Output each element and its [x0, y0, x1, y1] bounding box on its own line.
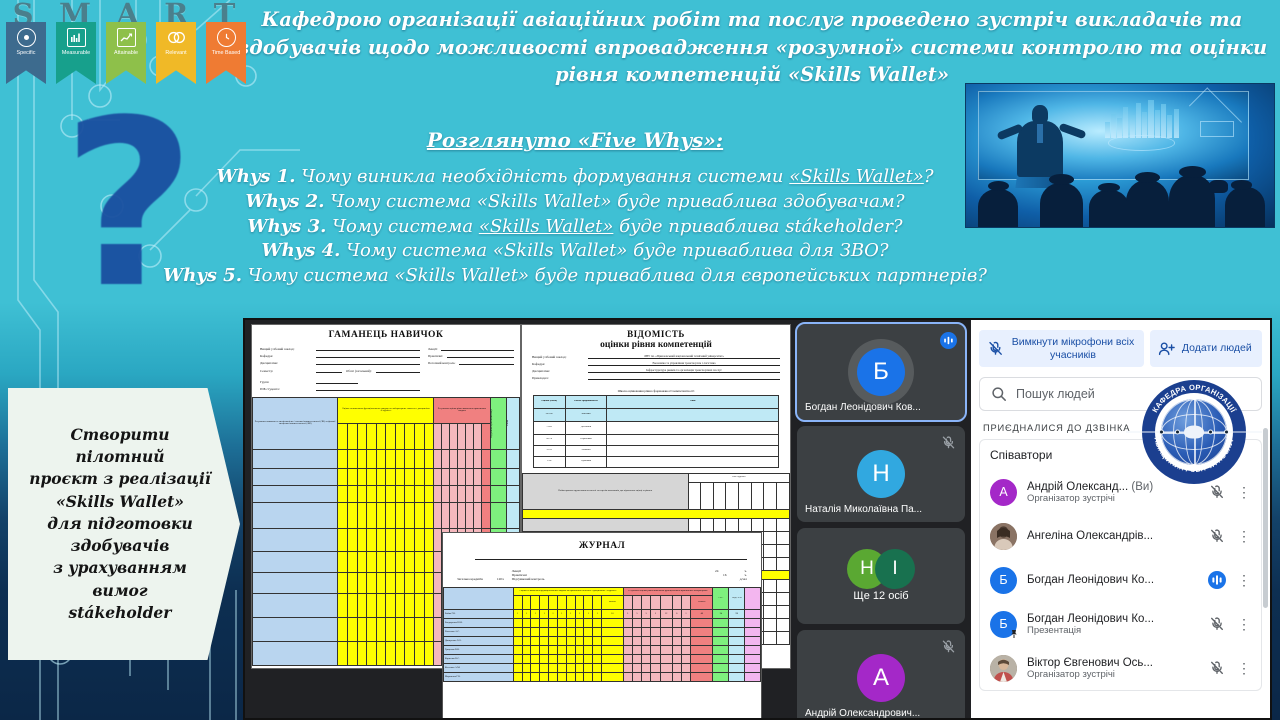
more-options-icon[interactable]: ⋮	[1237, 620, 1251, 628]
doc1-field-label: Вищий учбовий заклад:	[260, 347, 312, 351]
doc2-scale-score: 90-100	[534, 413, 565, 417]
logo-bottom-text: АВІАЦІЙНИХ РОБІТ ТА ПОСЛУГ	[1152, 437, 1235, 474]
doc3-head-srs: СРС	[713, 597, 728, 601]
tile-name: Богдан Леонідович Ков...	[805, 402, 957, 413]
doc3-stat-value: 120ч	[497, 577, 504, 581]
doc3-row-total: 10	[602, 612, 622, 616]
department-logo: КАФЕДРА ОРГАНІЗАЦІЇ АВІАЦІЙНИХ РОБІТ ТА …	[1142, 380, 1246, 484]
doc1-col-header-green: Підсумкова оцінка компетенції	[491, 409, 493, 438]
add-person-icon	[1158, 341, 1176, 357]
whys-text-a: Чому система «Skills Wallet» буде приваб…	[346, 240, 888, 261]
participant-row[interactable]: Б Богдан Леонідович Ко... ⋮	[980, 558, 1261, 602]
smart-ribbons: Specific Measurable Attainable Relevant …	[6, 22, 246, 90]
doc2-scale-title: Шкала оцінювання рівня сформованості ком…	[522, 386, 790, 395]
doc2-subtitle: оцінки рівня компетенцій	[522, 340, 790, 354]
clock-icon	[217, 28, 236, 47]
doc3-head-red: Результати оцінки рівня виконання функці…	[624, 590, 713, 594]
pin-icon	[1009, 629, 1019, 639]
smart-ribbon-label: Measurable	[56, 51, 96, 57]
doc1-col-header-yellow: Оцінка за виконання функціональних завда…	[338, 407, 433, 413]
doc3-head-sum: Всього	[691, 601, 712, 605]
doc3-cell: 1	[531, 612, 539, 616]
callout-line: для підготовки	[28, 513, 212, 535]
avatar-pair: Н І	[853, 549, 909, 589]
callout-line: Створити пілотний	[28, 424, 212, 469]
mic-muted-icon[interactable]	[1207, 660, 1227, 676]
whys-item-2: Whys 2. Чому система «Skills Wallet» буд…	[110, 190, 1040, 215]
mic-muted-icon[interactable]	[1207, 484, 1227, 500]
doc1-field-right: Практичні:	[428, 354, 443, 358]
whys-num: Whys 2.	[246, 191, 325, 212]
doc3-student: Дмитренко О.О.	[444, 639, 513, 643]
video-meeting-screenshot: ГАМАНЕЦЬ НАВИЧОК Вищий учбовий заклад: К…	[243, 318, 1272, 720]
smart-ribbon-relevant: Relevant	[156, 22, 196, 84]
callout-line: з урахуванням	[28, 557, 212, 579]
doc3-cell: 1	[593, 612, 601, 616]
doc3-student: Бойко Г.В.	[444, 612, 513, 616]
callout-line: «Skills Wallet»	[28, 491, 212, 513]
participant-name: Богдан Леонідович Ко...	[1027, 574, 1197, 586]
doc3-cell: 1	[576, 612, 584, 616]
screen-bar-chart-icon	[1105, 98, 1179, 138]
whys-num: Whys 5.	[163, 265, 242, 286]
shared-screen-stage[interactable]: ГАМАНЕЦЬ НАВИЧОК Вищий учбовий заклад: К…	[245, 320, 791, 718]
doc3-cell: 1	[682, 612, 690, 616]
target-icon	[17, 28, 36, 47]
search-icon	[991, 386, 1007, 402]
whys-text-a: Чому виникла необхідність формування сис…	[301, 166, 789, 187]
whys-item-5: Whys 5. Чому система «Skills Wallet» буд…	[110, 264, 1040, 289]
people-panel: Вимкнути мікрофони всіх учасників Додати…	[971, 320, 1270, 718]
doc1-field-label: Кафедра:	[260, 354, 312, 358]
people-panel-scrollbar[interactable]	[1263, 428, 1268, 608]
tile-name: Андрій Олександрович...	[805, 708, 957, 719]
smart-ribbon-label: Relevant	[156, 51, 196, 57]
svg-text:КАФЕДРА ОРГАНІЗАЦІЇ: КАФЕДРА ОРГАНІЗАЦІЇ	[1150, 383, 1238, 415]
avatar: Б	[990, 611, 1017, 638]
doc3-row-rtotal: 48	[691, 612, 712, 616]
doc3-cell: 1	[523, 612, 531, 616]
doc3-student: Мартинюк Г.В.	[444, 675, 513, 679]
participant-row[interactable]: Ангеліна Олександрів... ⋮	[980, 514, 1261, 558]
whys-text-b: ?	[924, 166, 934, 187]
doc2-scale-level: Нульовий	[566, 460, 607, 464]
speaking-indicator-icon	[940, 332, 957, 349]
doc3-cell: 5	[642, 612, 650, 616]
smart-ribbon-label: Time Based	[206, 51, 246, 57]
doc2-scale-level: Достатній	[566, 426, 607, 430]
participant-info: Ангеліна Олександрів...	[1027, 530, 1197, 542]
participant-row[interactable]: Б Богдан Леонідович Ко... Презентація ⋮	[980, 602, 1261, 646]
doc3-cell: 5	[633, 612, 641, 616]
avatar	[990, 523, 1017, 550]
doc2-scale-level: Низький	[566, 449, 607, 453]
doc3-title: ЖУРНАЛ	[443, 533, 761, 555]
doc3-head-yellow: Оцінка за виконання функціональних завда…	[514, 590, 623, 594]
more-options-icon[interactable]: ⋮	[1237, 576, 1251, 584]
smart-ribbon-attainable: Attainable	[106, 22, 146, 84]
doc2-scale-score: 75-89	[534, 426, 565, 430]
doc2-field-value: Економіка та управління транспортом і ло…	[588, 361, 780, 366]
doc3-cell: 12	[661, 612, 672, 616]
avatar	[990, 655, 1017, 682]
participant-role: Організатор зустрічі	[1027, 669, 1197, 680]
overflow-count-label: Ще 12 осіб	[797, 590, 965, 602]
mic-muted-icon	[940, 638, 957, 655]
doc2-table-header-grey: Найменування групи компетентності та пер…	[523, 489, 688, 493]
mic-off-icon	[987, 340, 1004, 357]
conclusion-callout: Створити пілотний проєкт з реалізації «S…	[8, 388, 240, 660]
doc1-field-right: Лекції:	[428, 347, 437, 351]
doc3-row-final: 98	[729, 612, 744, 616]
smart-ribbon-timebased: Time Based	[206, 22, 246, 84]
more-options-icon[interactable]: ⋮	[1237, 532, 1251, 540]
avatar: Н	[857, 450, 905, 498]
slide-title: Кафедрою організації авіаційних робіт та…	[232, 6, 1272, 89]
participant-row[interactable]: Віктор Євгенович Ось... Організатор зуст…	[980, 646, 1261, 690]
callout-text: Створити пілотний проєкт з реалізації «S…	[28, 424, 220, 625]
doc3-head-total: ПІДСУМ	[729, 597, 744, 601]
doc3-cell: 1	[549, 612, 557, 616]
callout-line: здобувачів	[28, 535, 212, 557]
doc1-field-label: ПІБ студента:	[260, 387, 312, 391]
participant-role: Презентація	[1027, 625, 1197, 636]
participant-name: Богдан Леонідович Ко...	[1027, 613, 1197, 625]
doc2-scale-score: 60-74	[534, 438, 565, 442]
doc3-cell: 1	[540, 612, 548, 616]
doc1-field-label: Семестр:	[260, 369, 312, 373]
participant-info: Богдан Леонідович Ко...	[1027, 574, 1197, 586]
whys-num: Whys 3.	[247, 216, 326, 237]
screen-box-icon	[1200, 121, 1234, 137]
logo-text: КАФЕДРА ОРГАНІЗАЦІЇ АВІАЦІЙНИХ РОБІТ ТА …	[1142, 380, 1246, 484]
callout-line: stákeholder	[28, 602, 212, 624]
doc2-scale-level: Пороговий	[566, 438, 607, 442]
doc3-stat-label: Підсумковий контроль	[512, 577, 545, 581]
participant-video-tiles: Б Богдан Леонідович Ков... Н Наталія Мик…	[791, 320, 971, 718]
doc1-col-header-left: Результати навчання за спеціальністю / з…	[253, 420, 337, 426]
five-whys-heading: Розглянуто «Five Whys»:	[110, 128, 1040, 152]
video-tile-overflow[interactable]: Н І Ще 12 осіб	[797, 528, 965, 624]
more-options-icon[interactable]: ⋮	[1237, 488, 1251, 496]
tile-name: Наталія Миколаївна Па...	[805, 504, 957, 515]
smart-ribbon-label: Specific	[6, 51, 46, 57]
line-chart-icon	[117, 28, 136, 47]
doc3-cell: 1	[514, 612, 522, 616]
participant-name: Ангеліна Олександрів...	[1027, 530, 1197, 542]
doc1-field-right: Поточний контроль:	[428, 361, 455, 365]
mic-muted-icon[interactable]	[1207, 616, 1227, 632]
doc2-field-value: ЛНУ ім. «Приазовський національний техні…	[588, 354, 780, 359]
mic-muted-icon	[940, 434, 957, 451]
avatar: Б	[857, 348, 905, 396]
whys-num: Whys 1.	[217, 166, 296, 187]
doc2-title: ВІДОМІСТЬ	[522, 325, 790, 340]
doc3-stat-value: 24	[715, 569, 718, 573]
callout-line: вимог	[28, 580, 212, 602]
doc3-head-sum: Всього	[602, 601, 622, 605]
logo-top-text: КАФЕДРА ОРГАНІЗАЦІЇ	[1150, 383, 1238, 415]
participant-name: Віктор Євгенович Ось...	[1027, 657, 1197, 669]
doc3-cell: 5	[624, 612, 632, 616]
whys-text-a: Чому система	[332, 216, 479, 237]
doc2-scale-level: Високий	[566, 413, 607, 417]
doc2-field-label: Вищий учбовий заклад:	[532, 355, 584, 359]
add-people-label: Додати людей	[1182, 342, 1252, 355]
whys-link: «Skills Wallet»	[479, 216, 614, 237]
doc3-stat-value: 16	[723, 573, 726, 577]
add-people-button[interactable]: Додати людей	[1150, 330, 1262, 367]
five-whys-block: Розглянуто «Five Whys»: Whys 1. Чому вин…	[110, 128, 1040, 289]
doc1-title: ГАМАНЕЦЬ НАВИЧОК	[252, 325, 520, 344]
mute-all-label: Вимкнути мікрофони всіх учасників	[1010, 336, 1136, 361]
whys-item-4: Whys 4. Чому система «Skills Wallet» буд…	[110, 239, 1040, 264]
doc3-stat-value: д/зал	[740, 577, 747, 581]
rings-icon	[167, 28, 186, 47]
avatar: І	[875, 549, 915, 589]
smart-ribbon-label: Attainable	[106, 51, 146, 57]
doc3-stat-label: Загальна кредитів	[457, 577, 483, 581]
doc3-student: Гриценко В.В.	[444, 648, 513, 652]
doc3-student: Власенко А.С.	[444, 630, 513, 634]
doc3-cell: 5	[651, 612, 659, 616]
people-panel-actions: Вимкнути мікрофони всіх учасників Додати…	[971, 320, 1270, 373]
whys-link: «Skills Wallet»	[789, 166, 924, 187]
doc2-field-label: Дисципліна:	[532, 369, 584, 373]
more-options-icon[interactable]: ⋮	[1237, 664, 1251, 672]
doc3-student: Бондаренко Ю.В.	[444, 621, 513, 625]
video-tile[interactable]: Б Богдан Леонідович Ков...	[797, 324, 965, 420]
mute-all-button[interactable]: Вимкнути мікрофони всіх учасників	[979, 330, 1144, 367]
video-tile[interactable]: А Андрій Олександрович...	[797, 630, 965, 720]
document-journal: ЖУРНАЛ Загальна кредитів 120ч Лекції24ч.…	[442, 532, 762, 718]
doc3-cell: 1	[558, 612, 566, 616]
whys-text-b: буде приваблива stákeholder?	[613, 216, 902, 237]
doc2-scale-header: Рівень сформованості	[566, 400, 607, 404]
speaking-indicator-icon[interactable]	[1207, 571, 1227, 589]
doc2-scale-score: 35-59	[534, 449, 565, 453]
avatar: Б	[990, 567, 1017, 594]
doc3-student: Костенко А.М.	[444, 666, 513, 670]
smart-ribbon-measurable: Measurable	[56, 22, 96, 84]
doc1-field-label: Дисципліна:	[260, 361, 312, 365]
whys-num: Whys 4.	[261, 240, 340, 261]
whys-text-a: Чому система «Skills Wallet» буде приваб…	[248, 265, 987, 286]
participant-info: Богдан Леонідович Ко... Презентація	[1027, 613, 1197, 636]
avatar: А	[857, 654, 905, 702]
doc1-field-right: Обсяг (загальний):	[346, 369, 372, 373]
doc2-scale-header: Опис	[607, 400, 778, 404]
avatar: А	[990, 479, 1017, 506]
search-placeholder: Пошук людей	[1016, 387, 1095, 401]
doc1-field-label: Група:	[260, 380, 312, 384]
bar-chart-icon	[67, 28, 86, 47]
smart-banner: S M A R T Specific Measurable Attainable…	[0, 0, 248, 92]
doc3-student: Карпенко В.С.	[444, 657, 513, 661]
doc2-scale-table: Оцінка (балів) Рівень сформованості Опис…	[533, 395, 780, 468]
whys-text-a: Чому система «Skills Wallet» буде приваб…	[330, 191, 904, 212]
people-list: А Андрій Олександ... (Ви) Організатор зу…	[979, 470, 1262, 691]
participant-role: Організатор зустрічі	[1027, 493, 1197, 504]
whys-item-3: Whys 3. Чому система «Skills Wallet» буд…	[110, 215, 1040, 240]
whys-item-1: Whys 1. Чому виникла необхідність формув…	[110, 165, 1040, 190]
participant-info: Андрій Олександ... (Ви) Організатор зуст…	[1027, 481, 1197, 504]
doc3-cell: 1	[584, 612, 592, 616]
doc1-col-header-blue: Рівень	[507, 420, 509, 426]
callout-line: проєкт з реалізації	[28, 468, 212, 490]
doc2-scale-header: Оцінка (балів)	[534, 400, 565, 404]
participant-info: Віктор Євгенович Ось... Організатор зуст…	[1027, 657, 1197, 680]
mic-muted-icon[interactable]	[1207, 528, 1227, 544]
video-tile[interactable]: Н Наталія Миколаївна Па...	[797, 426, 965, 522]
doc2-field-label: Прикладач:	[532, 376, 584, 380]
smart-ribbon-specific: Specific	[6, 22, 46, 84]
doc3-cell: 0	[673, 612, 681, 616]
doc2-field-label: Кафедра:	[532, 362, 584, 366]
doc3-row-srs: 24	[713, 612, 728, 616]
svg-text:АВІАЦІЙНИХ РОБІТ ТА ПОСЛУГ: АВІАЦІЙНИХ РОБІТ ТА ПОСЛУГ	[1152, 437, 1235, 474]
doc1-col-header-red: Результати оцінки рівня виконання практи…	[434, 407, 489, 413]
doc2-table-header-right: ПІБ студента	[689, 476, 789, 480]
doc2-scale-score: 1-34	[534, 460, 565, 464]
doc3-cell: 1	[567, 612, 575, 616]
doc2-field-value: Інфраструктура ринків та організація тра…	[588, 368, 780, 373]
doc3-journal-table: Оцінка за виконання функціональних завда…	[443, 587, 761, 682]
